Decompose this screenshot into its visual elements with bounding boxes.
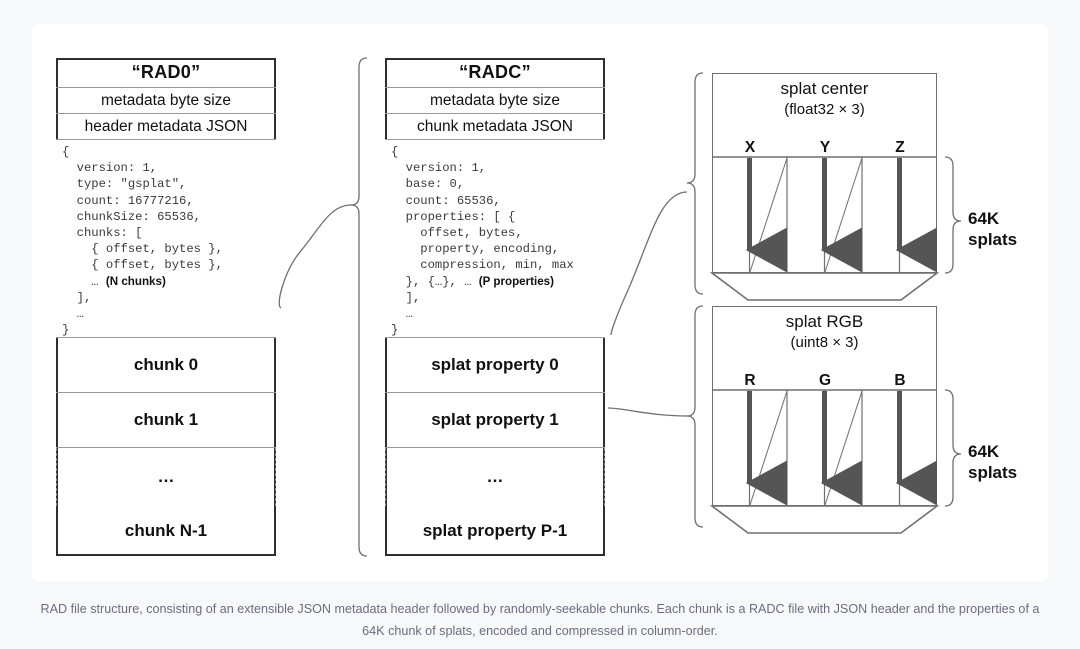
radc-json-line-5: offset, bytes, bbox=[391, 225, 605, 241]
radc-json-title-label: chunk metadata JSON bbox=[417, 118, 573, 136]
splat-center-subtitle: (float32 × 3) bbox=[712, 101, 937, 118]
splat-center-count-line1: 64K bbox=[968, 208, 1017, 229]
radc-property-row-ellipsis: … bbox=[385, 448, 605, 506]
rad-chunk-label-1: chunk 1 bbox=[134, 410, 198, 430]
rad-json-line-10: … bbox=[62, 306, 276, 322]
splat-center-count-label: 64K splats bbox=[968, 208, 1017, 250]
splat-rgb-count-line2: splats bbox=[968, 462, 1017, 483]
rad-chunk-label-0: chunk 0 bbox=[134, 355, 198, 375]
rad-metadata-size-row: metadata byte size bbox=[56, 88, 276, 114]
radc-json-line-11: } bbox=[391, 322, 605, 338]
rad-chunk-row-ellipsis: … bbox=[56, 448, 276, 506]
splat-rgb-subtitle: (uint8 × 3) bbox=[712, 334, 937, 351]
rad-chunk-row-0: chunk 0 bbox=[56, 338, 276, 393]
channel-label-x: X bbox=[737, 139, 763, 157]
radc-json-line-2: base: 0, bbox=[391, 176, 605, 192]
splat-center-gzip-label: Gzip bbox=[712, 279, 937, 299]
radc-json-line-6: property, encoding, bbox=[391, 241, 605, 257]
channel-label-g: G bbox=[812, 372, 838, 390]
radc-property-row-0: splat property 0 bbox=[385, 338, 605, 393]
radc-json-line-8: }, {…}, … (P properties) bbox=[391, 274, 605, 290]
channel-label-b: B bbox=[887, 372, 913, 390]
splat-rgb-gzip-label: Gzip bbox=[712, 512, 937, 532]
rad-json-title-row: header metadata JSON bbox=[56, 114, 276, 140]
radc-metadata-size-label: metadata byte size bbox=[430, 92, 560, 110]
rad-magic-row: “RAD0” bbox=[56, 58, 276, 88]
radc-property-label-last: splat property P-1 bbox=[423, 521, 568, 541]
radc-metadata-size-row: metadata byte size bbox=[385, 88, 605, 114]
diagram-root: “RAD0” metadata byte size header metadat… bbox=[0, 0, 1080, 649]
rad-json-line-11: } bbox=[62, 322, 276, 338]
radc-json-line-1: version: 1, bbox=[391, 160, 605, 176]
radc-property-row-1: splat property 1 bbox=[385, 393, 605, 448]
rad-chunk-label-ellipsis: … bbox=[158, 467, 175, 487]
radc-json-line-10: … bbox=[391, 306, 605, 322]
radc-json-line-3: count: 65536, bbox=[391, 193, 605, 209]
radc-json-body: { version: 1, base: 0, count: 65536, pro… bbox=[385, 140, 605, 338]
radc-json-bold-note: (P properties) bbox=[479, 275, 554, 288]
radc-magic-label: “RADC” bbox=[459, 62, 531, 83]
splat-center-block: splat center (float32 × 3) X Y Z Gzip bbox=[712, 73, 937, 273]
radc-property-label-1: splat property 1 bbox=[431, 410, 559, 430]
channel-label-y: Y bbox=[812, 139, 838, 157]
rad-chunk-row-last: chunk N-1 bbox=[56, 506, 276, 556]
splat-rgb-count-label: 64K splats bbox=[968, 441, 1017, 483]
rad-json-line-0: { bbox=[62, 144, 276, 160]
radc-property-label-0: splat property 0 bbox=[431, 355, 559, 375]
radc-file-column: “RADC” metadata byte size chunk metadata… bbox=[385, 58, 605, 556]
splat-rgb-count-line1: 64K bbox=[968, 441, 1017, 462]
radc-json-line-7: compression, min, max bbox=[391, 257, 605, 273]
rad-json-title-label: header metadata JSON bbox=[85, 118, 248, 136]
splat-center-title: splat center bbox=[712, 79, 937, 99]
splat-rgb-block: splat RGB (uint8 × 3) R G B Gzip bbox=[712, 306, 937, 506]
rad-json-line-9: ], bbox=[62, 290, 276, 306]
radc-json-line-9: ], bbox=[391, 290, 605, 306]
radc-magic-row: “RADC” bbox=[385, 58, 605, 88]
rad-chunk-label-last: chunk N-1 bbox=[125, 521, 207, 541]
rad-json-line-1: version: 1, bbox=[62, 160, 276, 176]
channel-label-r: R bbox=[737, 372, 763, 390]
splat-center-count-line2: splats bbox=[968, 229, 1017, 250]
rad-chunk-row-1: chunk 1 bbox=[56, 393, 276, 448]
radc-property-label-ellipsis: … bbox=[487, 467, 504, 487]
rad-json-line-2: type: "gsplat", bbox=[62, 176, 276, 192]
rad-file-column: “RAD0” metadata byte size header metadat… bbox=[56, 58, 276, 556]
rad-json-bold-note: (N chunks) bbox=[106, 275, 166, 288]
radc-property-row-last: splat property P-1 bbox=[385, 506, 605, 556]
channel-label-z: Z bbox=[887, 139, 913, 157]
radc-json-title-row: chunk metadata JSON bbox=[385, 114, 605, 140]
radc-json-line-4: properties: [ { bbox=[391, 209, 605, 225]
rad-json-line-4: chunkSize: 65536, bbox=[62, 209, 276, 225]
rad-json-line-6: { offset, bytes }, bbox=[62, 241, 276, 257]
rad-json-line-7: { offset, bytes }, bbox=[62, 257, 276, 273]
rad-json-line-8: … (N chunks) bbox=[62, 274, 276, 290]
rad-json-body: { version: 1, type: "gsplat", count: 167… bbox=[56, 140, 276, 338]
rad-metadata-size-label: metadata byte size bbox=[101, 92, 231, 110]
rad-json-line-5: chunks: [ bbox=[62, 225, 276, 241]
rad-magic-label: “RAD0” bbox=[132, 62, 201, 83]
radc-json-line-0: { bbox=[391, 144, 605, 160]
rad-json-line-3: count: 16777216, bbox=[62, 193, 276, 209]
figure-caption: RAD file structure, consisting of an ext… bbox=[40, 598, 1040, 642]
splat-rgb-title: splat RGB bbox=[712, 312, 937, 332]
